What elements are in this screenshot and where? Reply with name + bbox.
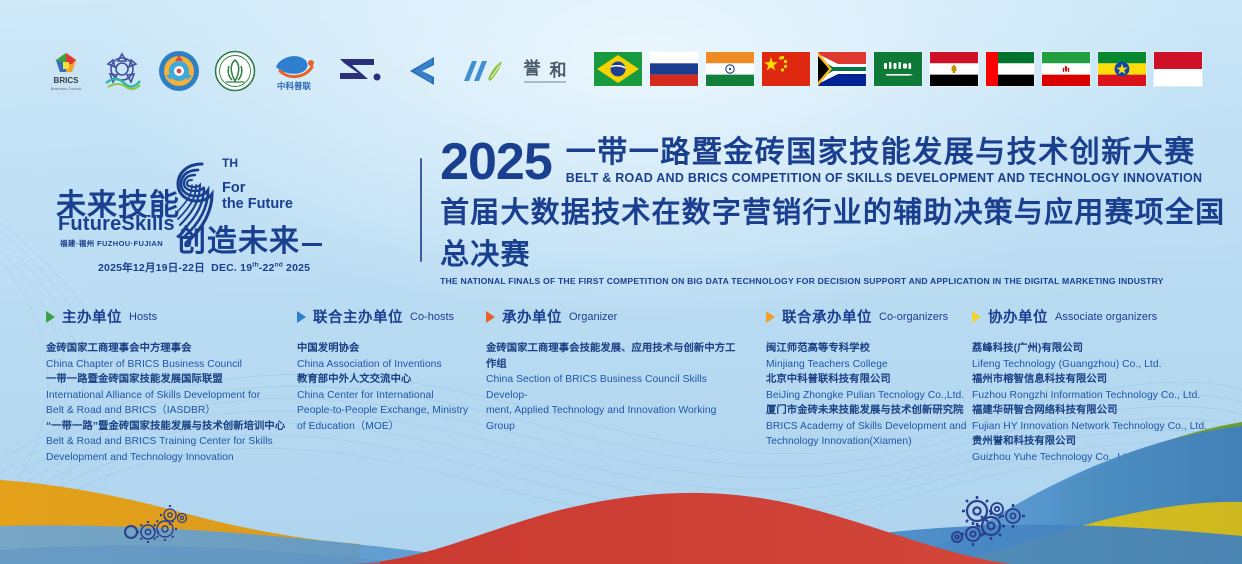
svg-text:誉: 誉 — [524, 58, 542, 79]
flag-india — [706, 52, 754, 86]
column-heading-en: Hosts — [129, 311, 157, 323]
column-associate-organizers-header: 协办单位 Associate organizers — [972, 306, 1212, 327]
china-association-of-inventions-logo — [100, 48, 144, 94]
banner-divider — [420, 158, 422, 262]
rongzhi-information-logo — [458, 48, 504, 94]
event-date-en-suffix: 2025 — [283, 262, 310, 274]
futureskills-brand-block: 未来技能 FutureSkills 福建·福州 FUZHOU·FUJIAN TH — [50, 150, 416, 270]
svg-text:Business Council: Business Council — [51, 86, 82, 91]
brics-business-council-logo: BRICS Business Council — [46, 48, 86, 94]
for-line-2: the Future — [222, 196, 293, 212]
title-row-year-and-cn: 2025 一带一路暨金砖国家技能发展与技术创新大赛 BELT & ROAD AN… — [440, 137, 1242, 185]
minjiang-teachers-college-logo — [332, 48, 384, 94]
column-heading-en: Co-hosts — [410, 311, 454, 323]
column-heading-cn: 主办单位 — [62, 306, 122, 327]
column-heading-cn: 联合主办单位 — [313, 306, 403, 327]
brand-location: 福建·福州 FUZHOU·FUJIAN — [60, 238, 163, 249]
flag-china — [762, 52, 810, 86]
org-line: 中国发明协会 — [297, 341, 497, 357]
event-date-sup-2: nd — [275, 262, 283, 269]
column-co-organizers-header: 联合承办单位 Co-organizers — [766, 306, 976, 327]
org-line: 教育部中外人文交流中心 — [297, 372, 497, 388]
column-heading-cn: 承办单位 — [502, 306, 562, 327]
svg-text:和: 和 — [550, 61, 567, 81]
title-en-line-2: THE NATIONAL FINALS OF THE FIRST COMPETI… — [440, 276, 1242, 286]
ministry-of-education-center-logo — [214, 48, 256, 94]
for-the-future-text: For the Future — [222, 180, 293, 212]
brand-slogan: 创造未来 — [176, 216, 322, 260]
column-organizer-header: 承办单位 Organizer — [486, 306, 741, 327]
org-line: 荔峰科技(广州)有限公司 — [972, 341, 1212, 357]
column-heading-en: Co-organizers — [879, 311, 948, 323]
international-alliance-logo — [158, 48, 200, 94]
triangle-marker-icon — [972, 311, 981, 323]
flag-iran — [1042, 52, 1090, 86]
flag-ethiopia — [1098, 52, 1146, 86]
title-cn-line-1: 一带一路暨金砖国家技能发展与技术创新大赛 — [566, 137, 1202, 169]
org-line: 金砖国家工商理事会技能发展、应用技术与创新中方工作组 — [486, 341, 741, 372]
poster-canvas: BRICS Business Council — [0, 0, 1242, 564]
column-hosts-header: 主办单位 Hosts — [46, 306, 296, 327]
column-heading-cn: 联合承办单位 — [782, 306, 872, 327]
brand-slogan-text: 创造未来 — [176, 225, 300, 258]
event-title-block: 2025 一带一路暨金砖国家技能发展与技术创新大赛 BELT & ROAD AN… — [440, 135, 1242, 286]
org-line: 金砖国家工商理事会中方理事会 — [46, 341, 296, 357]
org-line: Lifeng Technology (Guangzhou) Co., Ltd. — [972, 357, 1212, 373]
flag-indonesia — [1154, 52, 1202, 86]
flag-uae — [986, 52, 1034, 86]
flag-south-africa — [818, 52, 866, 86]
org-line: China Association of Inventions — [297, 357, 497, 373]
slogan-underline — [302, 243, 322, 246]
gear-cluster-right — [935, 490, 1035, 550]
triangle-marker-icon — [46, 311, 55, 323]
org-line: 福州市榕智信息科技有限公司 — [972, 372, 1212, 388]
org-line: China Center for International — [297, 388, 497, 404]
title-main-group: 一带一路暨金砖国家技能发展与技术创新大赛 BELT & ROAD AND BRI… — [566, 137, 1202, 185]
column-heading-cn: 协办单位 — [988, 306, 1048, 327]
for-line-1: For — [222, 180, 293, 196]
flag-egypt — [930, 52, 978, 86]
org-line: China Chapter of BRICS Business Council — [46, 357, 296, 373]
lifeng-technology-logo — [398, 48, 444, 94]
event-date: 2025年12月19日-22日 DEC. 19th-22nd 2025 — [98, 260, 310, 275]
wave-red-center — [340, 493, 1010, 564]
participating-country-flags — [594, 52, 1202, 86]
yuhe-technology-logo: 誉 和 — [518, 48, 572, 94]
triangle-marker-icon — [486, 311, 495, 323]
column-heading-en: Associate organizers — [1055, 311, 1157, 323]
triangle-marker-icon — [297, 311, 306, 323]
edition-suffix: TH — [222, 156, 238, 170]
svg-text:中科普联: 中科普联 — [277, 81, 312, 92]
event-date-en-mid: -22 — [259, 262, 275, 274]
title-en-line-1: BELT & ROAD AND BRICS COMPETITION OF SKI… — [566, 171, 1202, 185]
org-line: China Section of BRICS Business Council … — [486, 372, 741, 403]
org-line: Minjiang Teachers College — [766, 357, 976, 373]
flag-saudi-arabia — [874, 52, 922, 86]
flag-russia — [650, 52, 698, 86]
event-year: 2025 — [440, 139, 552, 185]
flag-brazil — [594, 52, 642, 86]
column-heading-en: Organizer — [569, 311, 617, 323]
triangle-marker-icon — [766, 311, 775, 323]
org-line: BeiJing Zhongke Pulian Tecnology Co.,Ltd… — [766, 388, 976, 404]
org-line: Fuzhou Rongzhi Information Technology Co… — [972, 388, 1212, 404]
org-line: 北京中科普联科技有限公司 — [766, 372, 976, 388]
event-date-en-prefix: DEC. 19 — [211, 262, 252, 274]
org-line: International Alliance of Skills Develop… — [46, 388, 296, 404]
zhongke-pulian-logo: 中科普联 — [270, 48, 318, 94]
org-line: 一带一路暨金砖国家技能发展国际联盟 — [46, 372, 296, 388]
main-banner: 未来技能 FutureSkills 福建·福州 FUZHOU·FUJIAN TH — [0, 140, 1242, 280]
gear-cluster-left — [118, 505, 188, 547]
column-co-hosts-header: 联合主办单位 Co-hosts — [297, 306, 497, 327]
org-line: 闽江师范高等专科学校 — [766, 341, 976, 357]
title-cn-line-2: 首届大数据技术在数字营销行业的辅助决策与应用赛项全国总决赛 — [440, 189, 1242, 273]
event-date-cn: 2025年12月19日-22日 — [98, 262, 205, 274]
partner-logo-row: BRICS Business Council — [46, 46, 572, 96]
svg-text:BRICS: BRICS — [54, 76, 80, 85]
